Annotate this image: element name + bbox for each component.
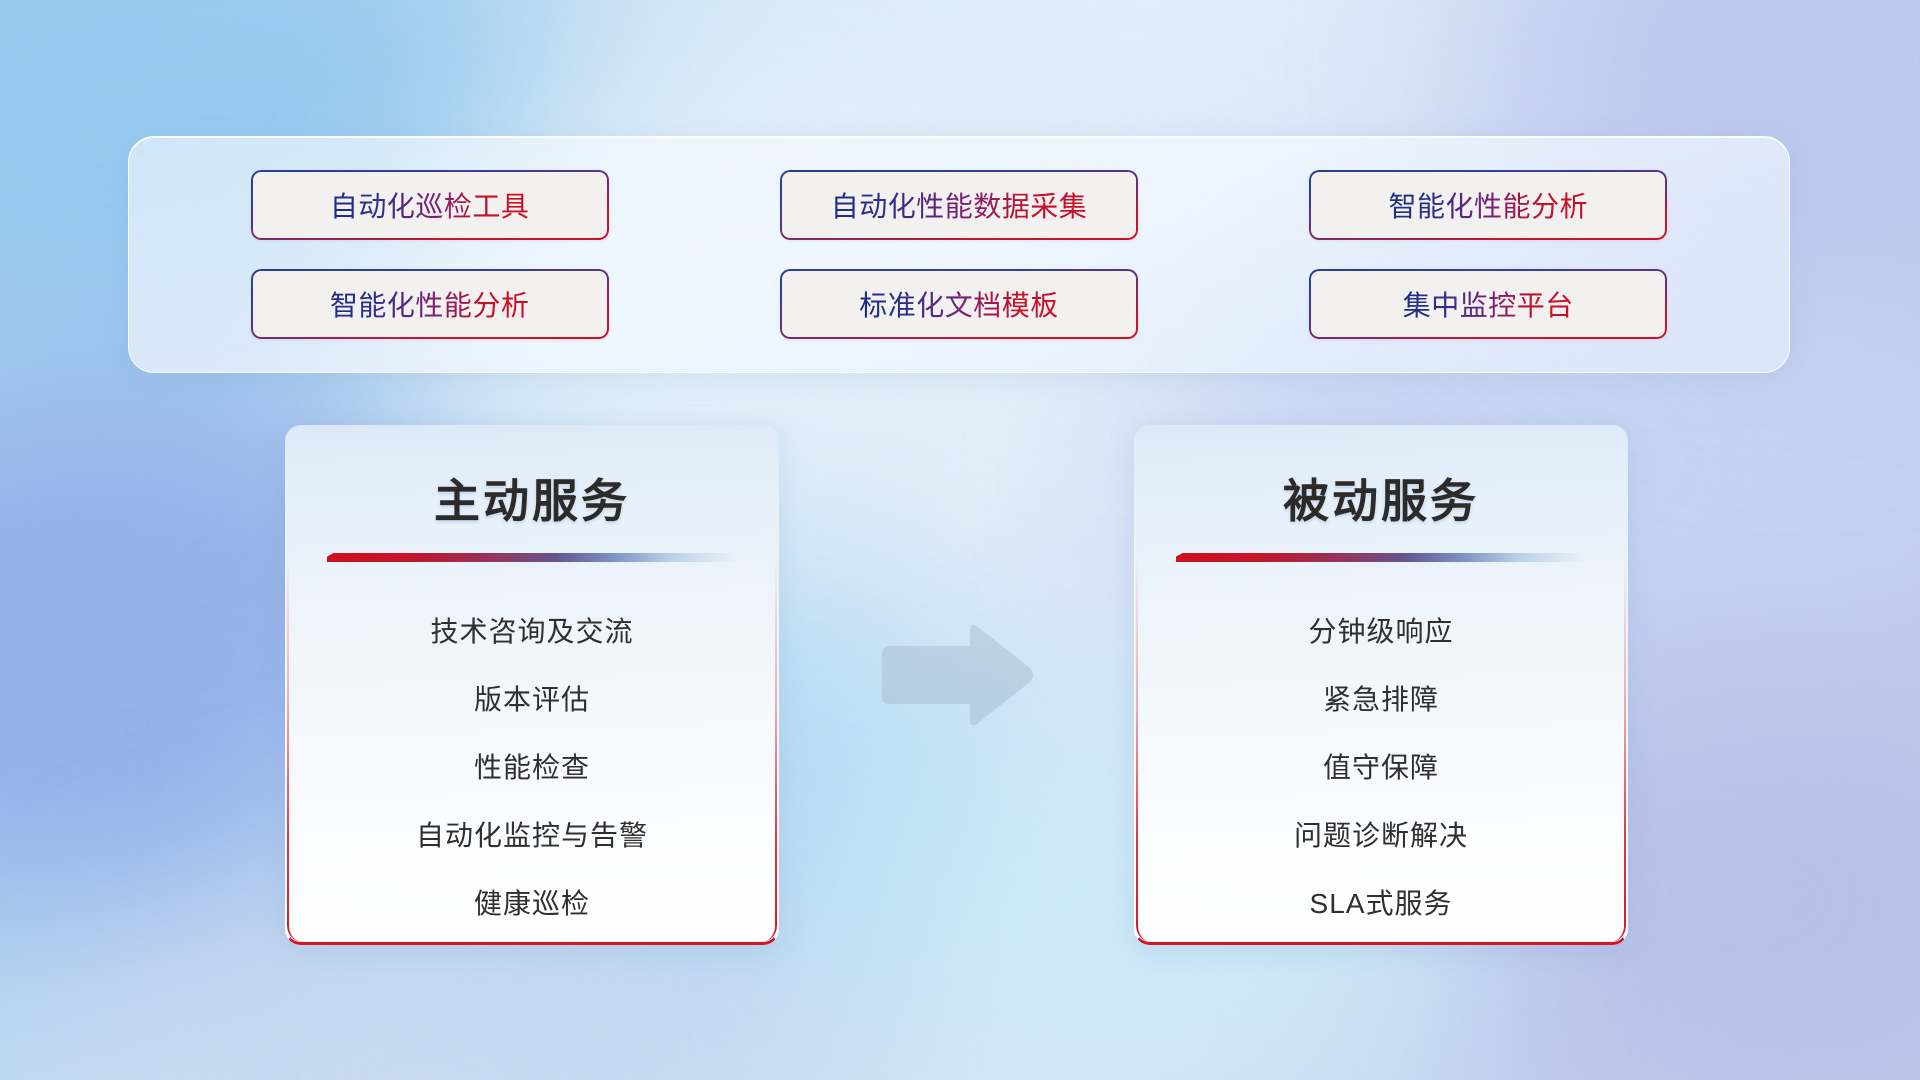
capability-panel: 自动化巡检工具 自动化性能数据采集 智能化性能分析 智能化性能分析 标准化文档模… (128, 136, 1790, 373)
service-item-list: 技术咨询及交流 版本评估 性能检查 自动化监控与告警 健康巡检 (287, 562, 777, 936)
capability-chip-label: 自动化巡检工具 (330, 185, 530, 225)
list-item: 性能检查 (311, 732, 753, 800)
capability-chip-label: 智能化性能分析 (330, 284, 530, 324)
capability-chip-label: 智能化性能分析 (1389, 185, 1589, 225)
service-card-title: 被动服务 (1136, 425, 1626, 531)
capability-chip-intelligent-performance-analysis-1[interactable]: 智能化性能分析 (1309, 170, 1667, 240)
divider-bar (327, 553, 737, 562)
service-card-passive: 被动服务 分钟级响应 紧急排障 值守保障 问题诊断解决 SLA式服务 (1134, 425, 1628, 945)
list-item: 自动化监控与告警 (311, 800, 753, 868)
divider-bar (1176, 553, 1586, 562)
flow-arrow-right-icon (874, 620, 1036, 730)
list-item: 版本评估 (311, 664, 753, 732)
capability-chip-label: 集中监控平台 (1403, 284, 1574, 324)
capability-chip-intelligent-performance-analysis-2[interactable]: 智能化性能分析 (251, 269, 609, 339)
capability-chip-label: 自动化性能数据采集 (831, 185, 1088, 225)
capability-chip-automated-performance-data-collection[interactable]: 自动化性能数据采集 (780, 170, 1138, 240)
list-item: 技术咨询及交流 (311, 596, 753, 664)
service-item-list: 分钟级响应 紧急排障 值守保障 问题诊断解决 SLA式服务 (1136, 562, 1626, 936)
list-item: 紧急排障 (1160, 664, 1602, 732)
title-divider (327, 553, 737, 562)
capability-chip-standardized-document-template[interactable]: 标准化文档模板 (780, 269, 1138, 339)
list-item: 分钟级响应 (1160, 596, 1602, 664)
service-card-active: 主动服务 技术咨询及交流 版本评估 性能检查 自动化监控与告警 健康巡检 (285, 425, 779, 945)
capability-chip-automated-inspection-tool[interactable]: 自动化巡检工具 (251, 170, 609, 240)
capability-chip-label: 标准化文档模板 (859, 284, 1059, 324)
list-item: SLA式服务 (1160, 868, 1602, 936)
list-item: 问题诊断解决 (1160, 800, 1602, 868)
list-item: 值守保障 (1160, 732, 1602, 800)
list-item: 健康巡检 (311, 868, 753, 936)
capability-chip-grid: 自动化巡检工具 自动化性能数据采集 智能化性能分析 智能化性能分析 标准化文档模… (129, 137, 1789, 372)
service-card-title: 主动服务 (287, 425, 777, 531)
capability-chip-centralized-monitoring-platform[interactable]: 集中监控平台 (1309, 269, 1667, 339)
title-divider (1176, 553, 1586, 562)
